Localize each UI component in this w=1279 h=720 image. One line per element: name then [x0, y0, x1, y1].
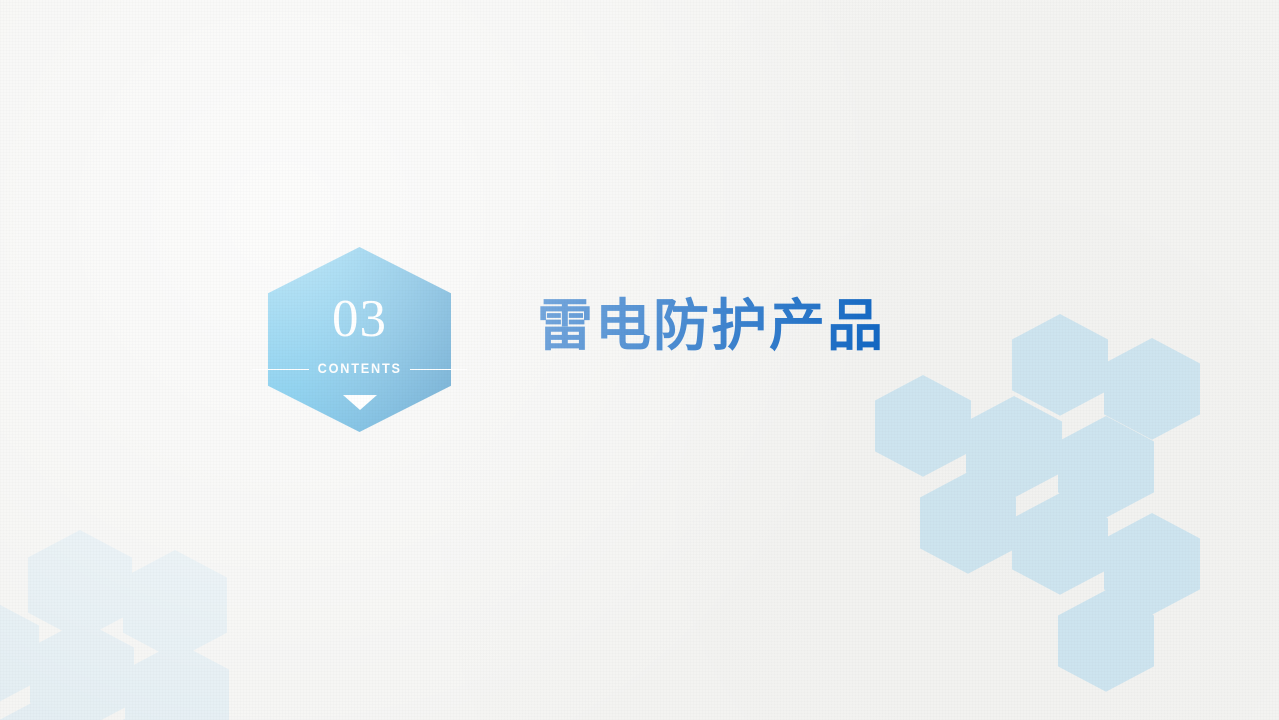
- caret-down-icon: [343, 395, 377, 410]
- divider-line-left: [252, 369, 309, 370]
- section-title: 雷电防护产品: [537, 292, 885, 360]
- hexagon-decoration: [1012, 314, 1108, 416]
- divider-line-right: [410, 369, 467, 370]
- contents-label: CONTENTS: [312, 362, 407, 376]
- honeycomb-decoration-right: [860, 300, 1240, 680]
- hexagon-decoration: [125, 642, 229, 720]
- contents-divider-row: CONTENTS: [252, 360, 467, 378]
- hexagon-decoration: [875, 375, 971, 477]
- section-number: 03: [268, 293, 451, 346]
- slide-canvas: 03 CONTENTS 雷电防护产品: [0, 0, 1279, 720]
- honeycomb-decoration-left: [0, 520, 240, 720]
- section-number-badge: 03 CONTENTS: [268, 247, 451, 432]
